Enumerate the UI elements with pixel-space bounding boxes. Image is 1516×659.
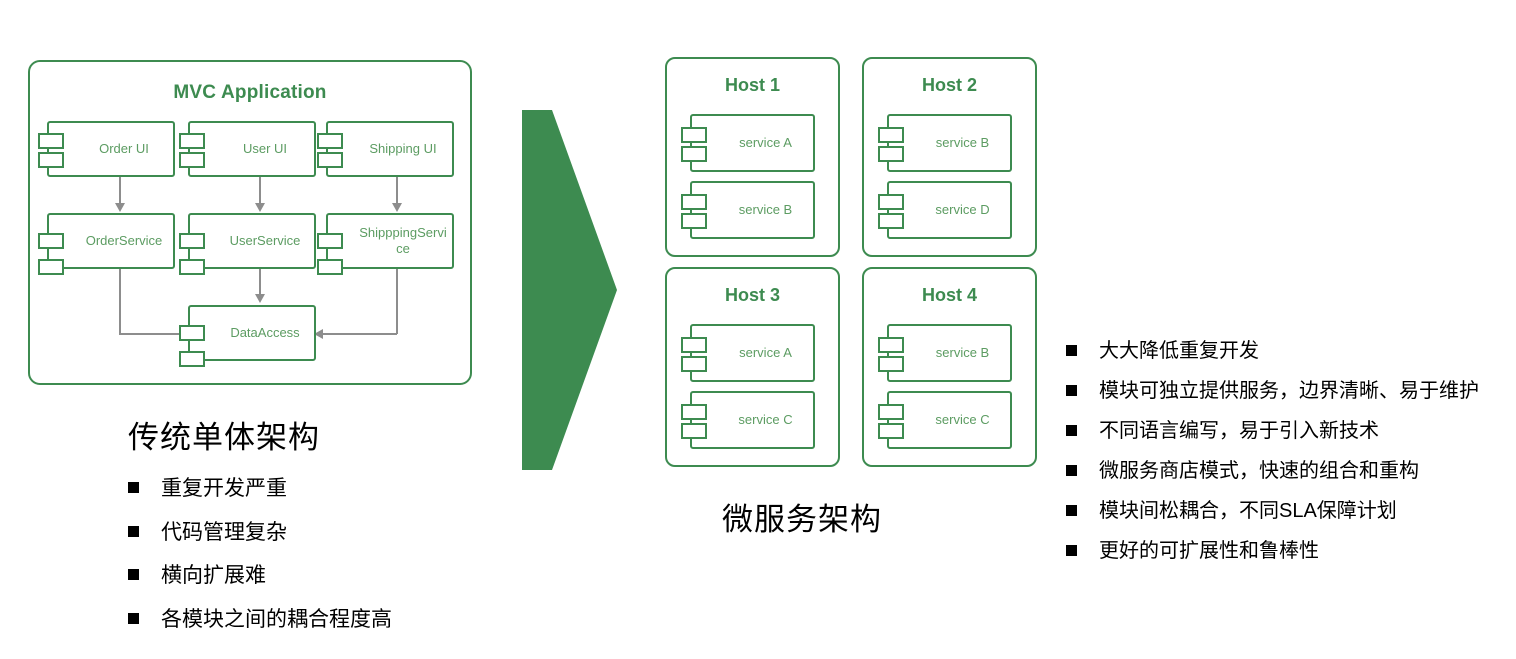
component-tab-lower	[878, 213, 904, 229]
connector-order-ui-to-order-service	[119, 177, 121, 204]
component-tab-lower	[681, 423, 707, 439]
component-tab-lower	[317, 152, 343, 168]
component-label: service B	[919, 116, 1006, 170]
list-item-label: 更好的可扩展性和鲁棒性	[1099, 536, 1319, 567]
bullet-square-icon	[1066, 505, 1077, 516]
host-title: Host 1	[667, 75, 838, 96]
service-component-host4-b[interactable]: service C	[887, 391, 1012, 449]
list-item-label: 重复开发严重	[161, 473, 287, 506]
transition-arrow-icon	[522, 110, 617, 470]
component-tab-upper	[317, 133, 343, 149]
bullet-square-icon	[1066, 425, 1077, 436]
component-label: User UI	[220, 123, 310, 175]
monolith-caption: 传统单体架构	[128, 412, 320, 457]
connector-shipping-service-vertical	[396, 269, 398, 334]
component-label: ShipppingService	[358, 215, 448, 267]
service-component-host2-b[interactable]: service D	[887, 181, 1012, 239]
list-item: 代码管理复杂	[128, 517, 392, 550]
list-item: 模块间松耦合，不同SLA保障计划	[1066, 496, 1479, 527]
component-tab-upper	[681, 194, 707, 210]
component-tab-lower	[681, 146, 707, 162]
bullet-square-icon	[1066, 465, 1077, 476]
service-component-host2-a[interactable]: service B	[887, 114, 1012, 172]
list-item-label: 不同语言编写，易于引入新技术	[1099, 416, 1379, 447]
component-tab-lower	[681, 356, 707, 372]
host-title: Host 3	[667, 285, 838, 306]
component-label: OrderService	[79, 215, 169, 267]
list-item-label: 代码管理复杂	[161, 517, 287, 550]
component-tab-lower	[38, 259, 64, 275]
component-tab-upper	[878, 194, 904, 210]
list-item-label: 大大降低重复开发	[1099, 336, 1259, 367]
component-data-access[interactable]: DataAccess	[188, 305, 316, 361]
list-item-label: 模块可独立提供服务，边界清晰、易于维护	[1099, 376, 1479, 407]
component-tab-lower	[179, 259, 205, 275]
component-tab-lower	[878, 146, 904, 162]
arrowhead-data-access-top	[255, 294, 265, 303]
component-label: Order UI	[79, 123, 169, 175]
arrowhead-order-service	[115, 203, 125, 212]
component-label: service D	[919, 183, 1006, 237]
service-component-host1-a[interactable]: service A	[690, 114, 815, 172]
connector-user-service-to-data-access	[259, 269, 261, 295]
component-order-service[interactable]: OrderService	[47, 213, 175, 269]
component-label: DataAccess	[220, 307, 310, 359]
component-label: service C	[722, 393, 809, 447]
bullet-square-icon	[1066, 345, 1077, 356]
component-tab-upper	[317, 233, 343, 249]
bullet-square-icon	[128, 482, 139, 493]
connector-order-service-horizontal	[119, 333, 187, 335]
connector-shipping-ui-to-shipping-service	[396, 177, 398, 204]
connector-user-ui-to-user-service	[259, 177, 261, 204]
bullet-square-icon	[128, 613, 139, 624]
component-tab-upper	[179, 325, 205, 341]
component-tab-upper	[681, 127, 707, 143]
list-item: 更好的可扩展性和鲁棒性	[1066, 536, 1479, 567]
service-component-host1-b[interactable]: service B	[690, 181, 815, 239]
component-tab-upper	[38, 233, 64, 249]
component-shipping-ui[interactable]: Shipping UI	[326, 121, 454, 177]
component-tab-upper	[681, 404, 707, 420]
arrowhead-shipping-service	[392, 203, 402, 212]
bullet-square-icon	[1066, 545, 1077, 556]
component-tab-upper	[878, 337, 904, 353]
arrowhead-user-service	[255, 203, 265, 212]
list-item: 不同语言编写，易于引入新技术	[1066, 416, 1479, 447]
connector-shipping-service-horizontal	[323, 333, 397, 335]
component-user-service[interactable]: UserService	[188, 213, 316, 269]
component-tab-upper	[878, 127, 904, 143]
list-item-label: 微服务商店模式，快速的组合和重构	[1099, 456, 1419, 487]
component-shipping-service[interactable]: ShipppingService	[326, 213, 454, 269]
list-item: 横向扩展难	[128, 560, 392, 593]
list-item: 大大降低重复开发	[1066, 336, 1479, 367]
monolith-bullet-list: 重复开发严重 代码管理复杂 横向扩展难 各模块之间的耦合程度高	[128, 473, 392, 647]
bullet-square-icon	[128, 526, 139, 537]
connector-order-service-vertical	[119, 269, 121, 334]
component-tab-upper	[179, 133, 205, 149]
component-tab-upper	[38, 133, 64, 149]
list-item: 各模块之间的耦合程度高	[128, 604, 392, 637]
component-label: service B	[722, 183, 809, 237]
microservices-bullet-list: 大大降低重复开发 模块可独立提供服务，边界清晰、易于维护 不同语言编写，易于引入…	[1066, 336, 1479, 576]
service-component-host3-b[interactable]: service C	[690, 391, 815, 449]
component-tab-upper	[878, 404, 904, 420]
component-label: service A	[722, 326, 809, 380]
list-item-label: 各模块之间的耦合程度高	[161, 604, 392, 637]
bullet-square-icon	[1066, 385, 1077, 396]
list-item: 微服务商店模式，快速的组合和重构	[1066, 456, 1479, 487]
host-title: Host 4	[864, 285, 1035, 306]
component-tab-lower	[878, 356, 904, 372]
component-tab-lower	[38, 152, 64, 168]
component-tab-upper	[681, 337, 707, 353]
component-order-ui[interactable]: Order UI	[47, 121, 175, 177]
component-user-ui[interactable]: User UI	[188, 121, 316, 177]
component-label: UserService	[220, 215, 310, 267]
list-item-label: 横向扩展难	[161, 560, 266, 593]
component-label: service B	[919, 326, 1006, 380]
component-tab-upper	[179, 233, 205, 249]
bullet-square-icon	[128, 569, 139, 580]
component-label: service A	[722, 116, 809, 170]
list-item: 模块可独立提供服务，边界清晰、易于维护	[1066, 376, 1479, 407]
service-component-host3-a[interactable]: service A	[690, 324, 815, 382]
microservices-caption: 微服务架构	[722, 494, 882, 539]
component-tab-lower	[878, 423, 904, 439]
list-item-label: 模块间松耦合，不同SLA保障计划	[1099, 496, 1397, 527]
component-tab-lower	[179, 152, 205, 168]
list-item: 重复开发严重	[128, 473, 392, 506]
component-label: service C	[919, 393, 1006, 447]
mvc-application-title: MVC Application	[30, 82, 470, 104]
host-title: Host 2	[864, 75, 1035, 96]
component-label: Shipping UI	[358, 123, 448, 175]
component-tab-lower	[179, 351, 205, 367]
component-tab-lower	[317, 259, 343, 275]
service-component-host4-a[interactable]: service B	[887, 324, 1012, 382]
component-tab-lower	[681, 213, 707, 229]
